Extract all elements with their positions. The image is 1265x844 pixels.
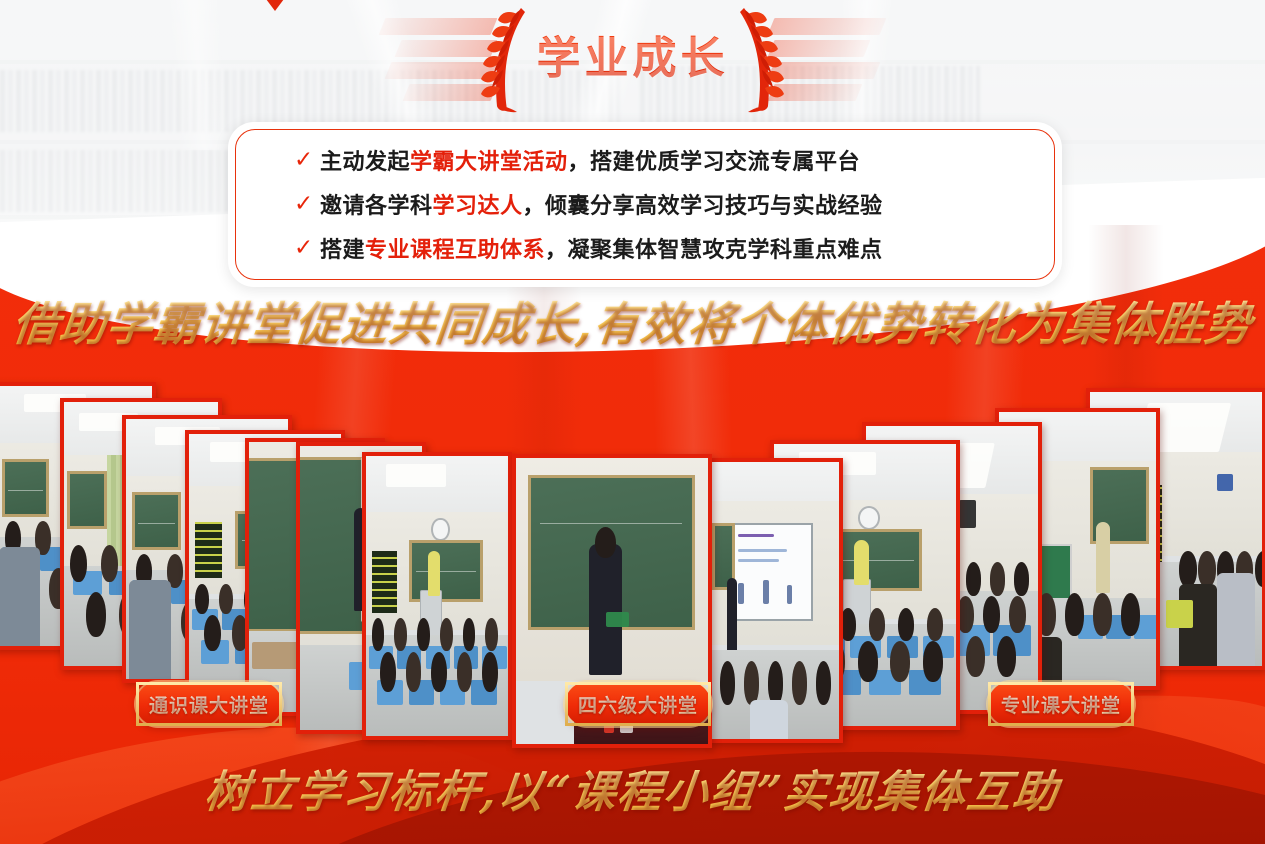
highlight-plain: 搭建 (320, 238, 365, 263)
photo-content (712, 462, 839, 739)
poster-canvas: 学业成长 ✓主动发起学霸大讲堂活动，搭建优质学习交流专属平台✓邀请各学科学习达人… (0, 0, 1265, 844)
calligraphy-bottom: 树立学习标杆,以“课程小组”实现集体互助 (0, 756, 1265, 820)
highlights-list: ✓主动发起学霸大讲堂活动，搭建优质学习交流专属平台✓邀请各学科学习达人，倾囊分享… (294, 138, 1038, 270)
highlight-item-text: 搭建专业课程互助体系，凝聚集体智慧攻克学科重点难点 (320, 232, 883, 264)
highlight-emphasis: 专业课程互助体系 (365, 238, 545, 263)
check-mark-icon: ✓ (294, 237, 320, 260)
highlight-emphasis: 学习达人 (433, 194, 523, 219)
highlight-plain: ，倾囊分享高效学习技巧与实战经验 (523, 194, 883, 219)
highlight-plain: 主动发起 (320, 150, 410, 175)
highlight-plain: ，搭建优质学习交流专属平台 (568, 150, 861, 175)
category-pill-2[interactable]: 四六级大讲堂 (565, 682, 711, 726)
highlight-plain: 邀请各学科 (320, 194, 433, 219)
highlight-item-text: 主动发起学霸大讲堂活动，搭建优质学习交流专属平台 (320, 144, 860, 176)
highlight-item: ✓邀请各学科学习达人，倾囊分享高效学习技巧与实战经验 (294, 182, 1038, 226)
check-mark-icon: ✓ (294, 149, 320, 172)
highlight-emphasis: 学霸大讲堂活动 (410, 150, 568, 175)
highlight-item-text: 邀请各学科学习达人，倾囊分享高效学习技巧与实战经验 (320, 188, 883, 220)
category-pill-3[interactable]: 专业课大讲堂 (988, 682, 1134, 726)
page-title: 学业成长 (0, 22, 1265, 86)
highlight-item: ✓搭建专业课程互助体系，凝聚集体智慧攻克学科重点难点 (294, 226, 1038, 270)
photo-gallery (0, 370, 1265, 680)
photo-content (366, 456, 508, 736)
highlight-item: ✓主动发起学霸大讲堂活动，搭建优质学习交流专属平台 (294, 138, 1038, 182)
category-pill-1[interactable]: 通识课大讲堂 (136, 682, 282, 726)
highlight-plain: ，凝聚集体智慧攻克学科重点难点 (545, 238, 883, 263)
category-pill-label: 四六级大讲堂 (578, 691, 698, 718)
category-pill-label: 专业课大讲堂 (1001, 691, 1121, 718)
calligraphy-top: 借助学霸讲堂促进共同成长,有效将个体优势转化为集体胜势 (0, 288, 1265, 354)
highlights-card: ✓主动发起学霸大讲堂活动，搭建优质学习交流专属平台✓邀请各学科学习达人，倾囊分享… (228, 122, 1062, 287)
photo-classroom-9 (708, 458, 843, 743)
header: 学业成长 (0, 0, 1265, 120)
triangle-down-icon (263, 0, 287, 11)
check-mark-icon: ✓ (294, 193, 320, 216)
photo-classroom-7 (362, 452, 512, 740)
category-pill-label: 通识课大讲堂 (149, 691, 269, 718)
